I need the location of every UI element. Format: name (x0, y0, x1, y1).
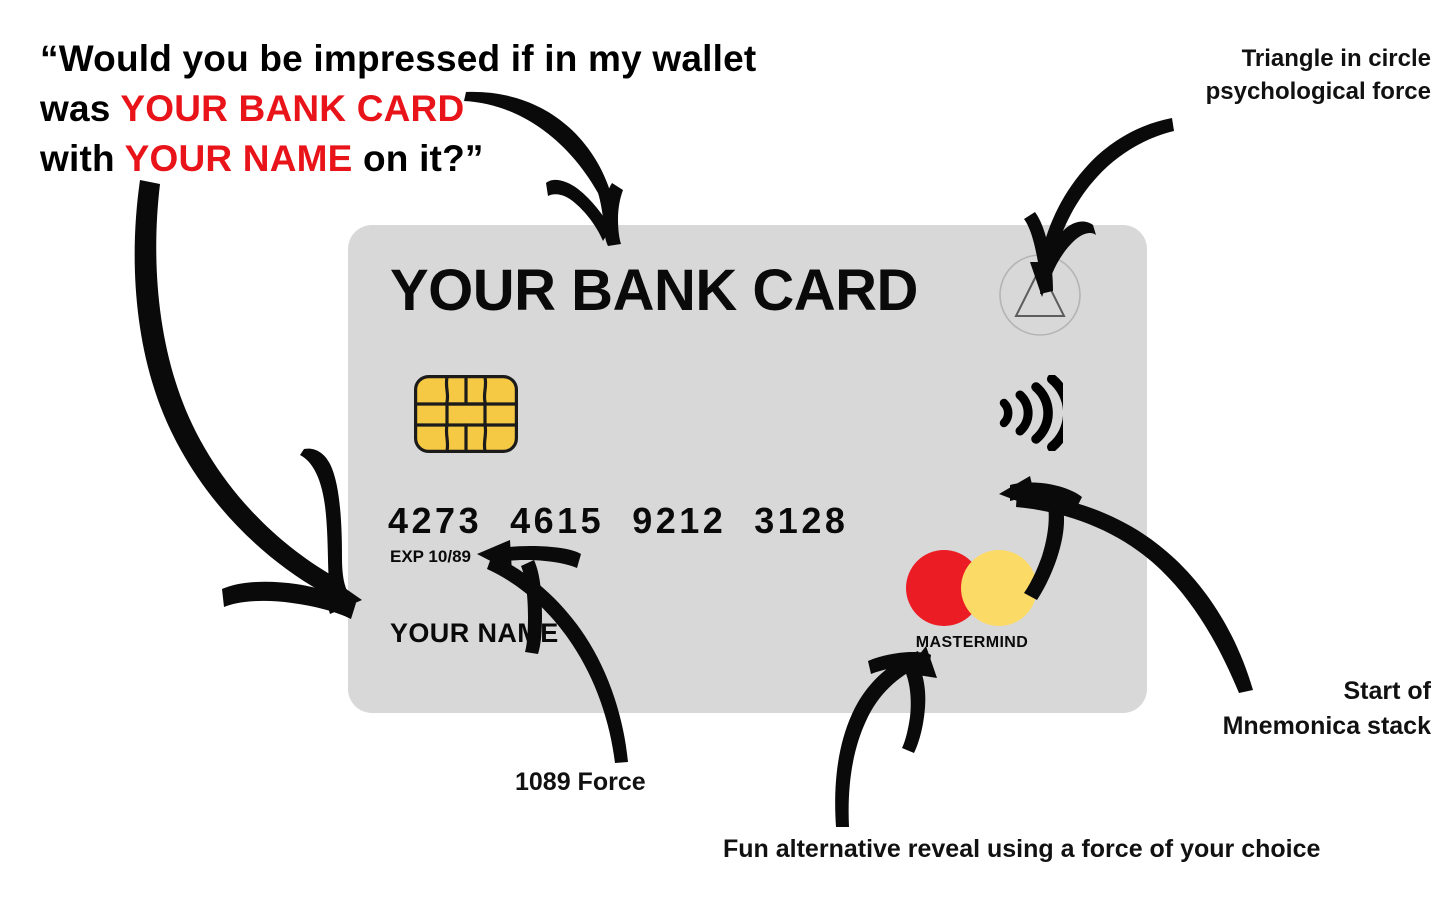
bank-card: YOUR BANK CARD (348, 225, 1147, 713)
brand-yellow-circle-icon (961, 550, 1037, 626)
emv-chip-icon (414, 375, 518, 453)
quote-line-3-suffix: on it?” (353, 138, 484, 179)
card-number-group-3: 9212 (632, 500, 726, 541)
card-number-group-4: 3128 (754, 500, 848, 541)
annotation-fun-alternative: Fun alternative reveal using a force of … (723, 835, 1320, 864)
card-brand-logo: MASTERMIND (906, 550, 1046, 650)
card-number-group-1: 4273 (388, 500, 482, 541)
card-holder-name: YOUR NAME (390, 618, 559, 649)
quote-line-2-prefix: was (40, 88, 120, 129)
quote-line-3-highlight: YOUR NAME (125, 138, 353, 179)
card-brand-name: MASTERMIND (906, 634, 1038, 652)
card-number-group-2: 4615 (510, 500, 604, 541)
poster-canvas: “Would you be impressed if in my wallet … (0, 0, 1445, 911)
quote-line-1: “Would you be impressed if in my wallet (40, 34, 820, 84)
annotation-1089-force: 1089 Force (515, 768, 646, 797)
quote-line-3-prefix: with (40, 138, 125, 179)
quote-line-2: was YOUR BANK CARD (40, 84, 820, 134)
annotation-mnemonica-line-2: Mnemonica stack (1111, 709, 1431, 744)
triangle-in-circle-icon (998, 253, 1082, 337)
annotation-triangle-force: Triangle in circle psychological force (1111, 42, 1431, 108)
annotation-triangle-line-2: psychological force (1111, 75, 1431, 108)
annotation-triangle-line-1: Triangle in circle (1111, 42, 1431, 75)
quote-line-3: with YOUR NAME on it?” (40, 134, 820, 184)
card-title: YOUR BANK CARD (390, 257, 918, 324)
annotation-mnemonica-stack: Start of Mnemonica stack (1111, 674, 1431, 743)
card-expiry: EXP 10/89 (390, 547, 471, 567)
annotation-mnemonica-line-1: Start of (1111, 674, 1431, 709)
quote-line-2-highlight: YOUR BANK CARD (120, 88, 464, 129)
long-curved-arrow-down-icon (135, 180, 362, 619)
contactless-payment-icon (993, 375, 1063, 451)
card-number: 4273461592123128 (388, 500, 848, 542)
headline-quote: “Would you be impressed if in my wallet … (40, 34, 820, 184)
